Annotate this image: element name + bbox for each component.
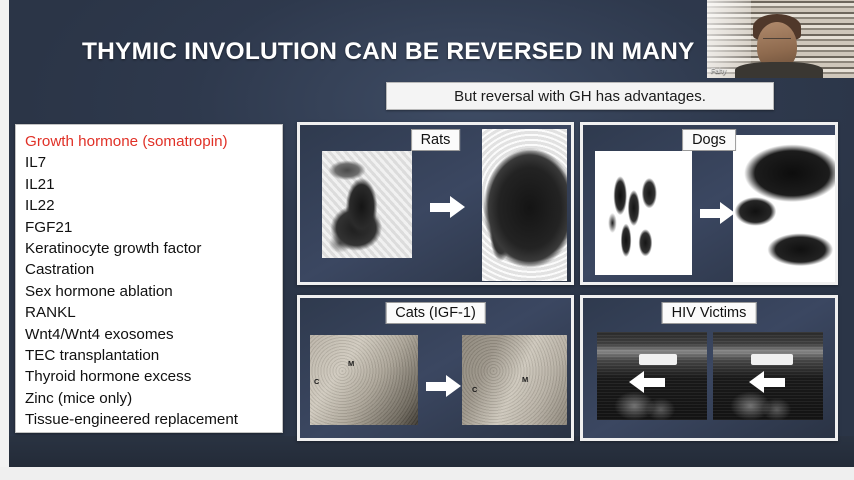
webcam-overlay[interactable]: Fahy [707,0,854,78]
subtitle-text: But reversal with GH has advantages. [454,88,706,105]
list-item: TEC transplantation [25,345,282,366]
hiv-scan-before-image [597,332,707,420]
subtitle-banner: But reversal with GH has advantages. [386,82,774,110]
page-title: THYMIC INVOLUTION CAN BE REVERSED IN MAN… [82,36,722,68]
panel-hiv-label: HIV Victims [662,302,757,324]
glasses-icon [763,38,791,46]
list-item: FGF21 [25,217,282,238]
viewer-bottom-strip [0,467,854,480]
dog-thymus-after-image [733,135,835,282]
panel-rats: Rats [297,122,574,285]
panel-dogs: Dogs [580,122,838,285]
cat-after-annotation-c: C [472,385,477,394]
cat-thymus-before-image: C M [310,335,418,425]
interventions-list-panel: Growth hormone (somatropin) IL7 IL21 IL2… [15,124,283,433]
speaker-torso [735,62,823,78]
cat-before-annotation-m: M [348,359,354,368]
panel-cats-label: Cats (IGF-1) [385,302,486,324]
cat-after-annotation-m: M [522,375,528,384]
list-item: IL21 [25,174,282,195]
list-item: Zinc (mice only) [25,388,282,409]
list-item: Castration [25,259,282,280]
rat-thymus-before-image [322,151,412,258]
panel-cats: C M C M Cats (IGF-1) [297,295,574,441]
list-item: Thyroid hormone excess [25,366,282,387]
panel-rats-label: Rats [411,129,461,151]
hiv-after-thymus-marker [751,354,793,365]
cat-before-annotation-c: C [314,377,319,386]
list-item: Sex hormone ablation [25,281,282,302]
rat-thymus-after-image [482,129,567,281]
panel-dogs-label: Dogs [682,129,736,151]
list-item: Wnt4/Wnt4 exosomes [25,324,282,345]
panel-hiv: HIV Victims [580,295,838,441]
speaker-name-label: Fahy [711,68,727,75]
list-item: IL7 [25,152,282,173]
list-item: RANKL [25,302,282,323]
presentation-slide: THYMIC INVOLUTION CAN BE REVERSED IN MAN… [0,0,854,480]
list-item: IL22 [25,195,282,216]
hiv-before-thymus-marker [639,354,677,365]
list-item: Keratinocyte growth factor [25,238,282,259]
cat-thymus-after-image: C M [462,335,567,425]
hiv-scan-after-image [713,332,823,420]
list-item: Tissue-engineered replacement [25,409,282,430]
list-item: Growth hormone (somatropin) [25,131,282,152]
dog-thymus-before-image [595,151,692,275]
